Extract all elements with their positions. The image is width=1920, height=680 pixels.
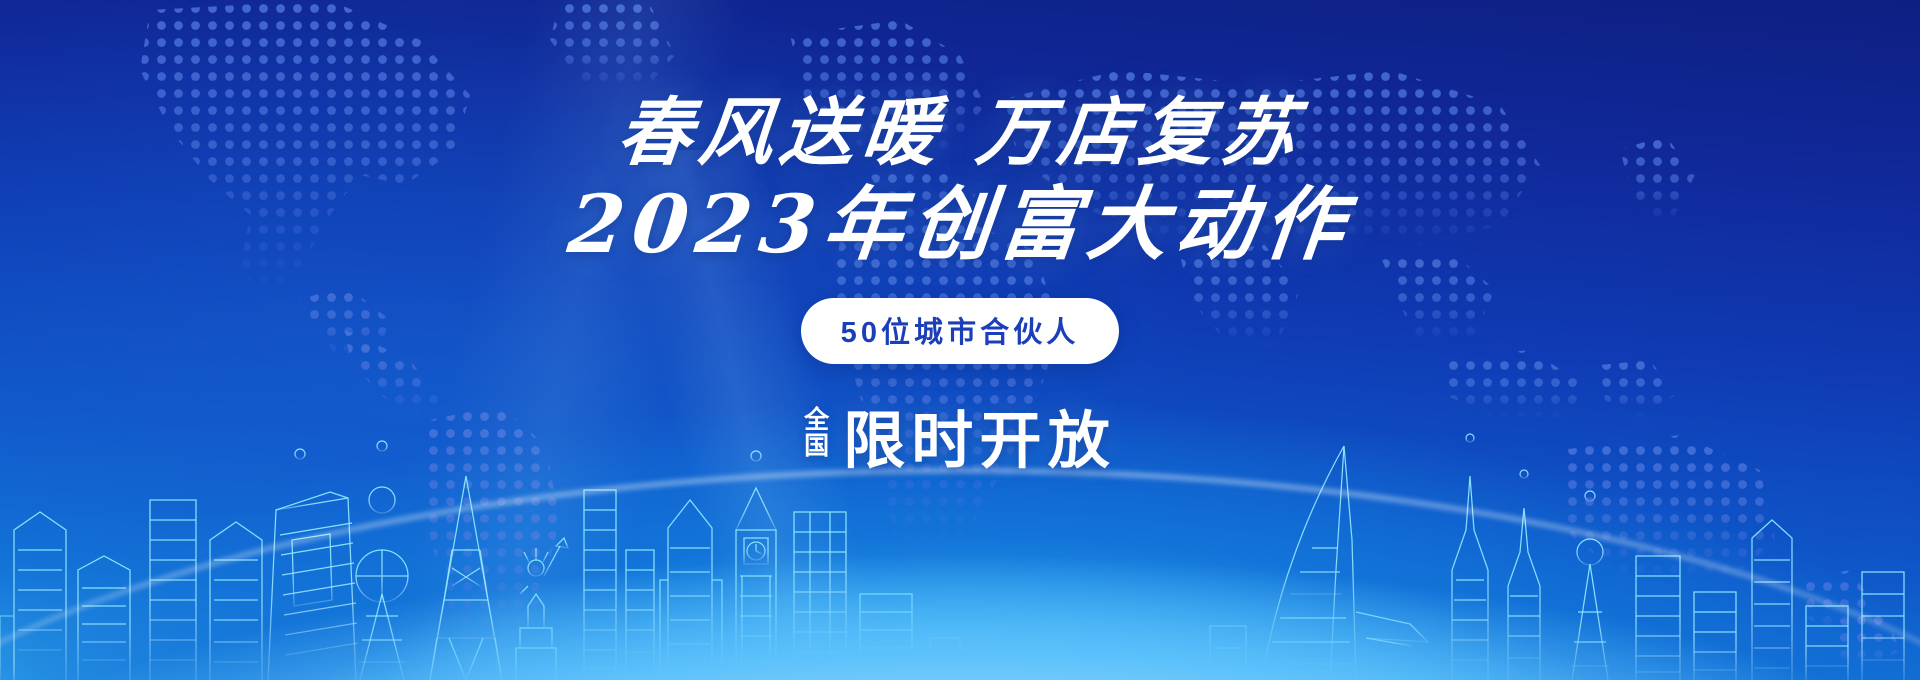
promo-banner: 春风送暖 万店复苏 2023年创富大动作 50位城市合伙人 全 国 限时开放 xyxy=(0,0,1920,680)
nationwide-prefix-bottom: 国 xyxy=(804,434,829,460)
availability-line: 全 国 限时开放 xyxy=(804,390,1116,480)
headline-line-1: 春风送暖 万店复苏 xyxy=(614,96,1306,170)
partner-count-badge: 50位城市合伙人 xyxy=(801,298,1120,364)
limited-time-open-text: 限时开放 xyxy=(843,390,1116,480)
headline-line-2: 2023年创富大动作 xyxy=(564,184,1355,264)
nationwide-prefix-top: 全 xyxy=(804,408,829,434)
nationwide-prefix: 全 国 xyxy=(804,408,829,459)
banner-content: 春风送暖 万店复苏 2023年创富大动作 50位城市合伙人 全 国 限时开放 xyxy=(0,0,1920,680)
